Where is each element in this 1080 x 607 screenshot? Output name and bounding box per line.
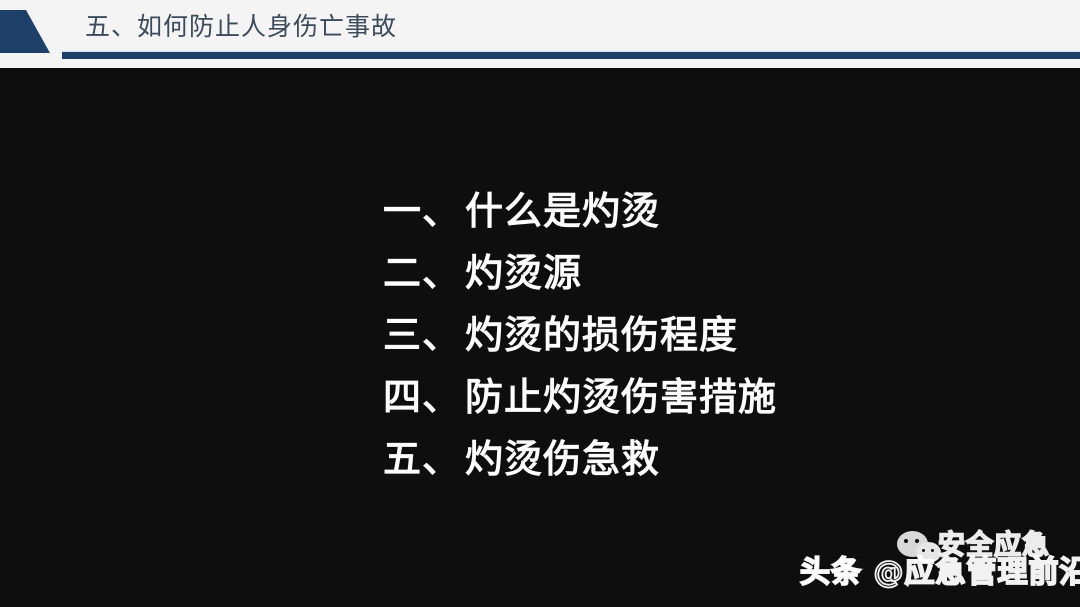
wechat-icon-eye-2 <box>915 539 919 543</box>
header-rule <box>62 52 1080 59</box>
agenda-item-2: 二、灼烫源 <box>383 242 1003 304</box>
agenda-item-5-label: 灼烫伤急救 <box>465 428 660 490</box>
slide-header: 五、如何防止人身伤亡事故 <box>0 0 1080 68</box>
agenda-item-1-label: 什么是灼烫 <box>465 180 660 242</box>
agenda-item-4: 四、防止灼烫伤害措施 <box>383 366 1003 428</box>
toutiao-handle-label: @应急管理前沿 <box>873 555 1080 590</box>
header-baseline <box>0 59 1080 68</box>
agenda-item-5: 五、灼烫伤急救 <box>383 428 1003 490</box>
wechat-icon-eye-1 <box>904 539 908 543</box>
header-accent-shape <box>0 10 50 53</box>
agenda-item-3-number: 三、 <box>383 304 461 366</box>
wechat-icon-eye-3 <box>922 549 925 552</box>
agenda-item-1: 一、什么是灼烫 <box>383 180 1003 242</box>
agenda-item-5-number: 五、 <box>383 428 461 490</box>
agenda-item-4-number: 四、 <box>383 366 461 428</box>
agenda-item-3: 三、灼烫的损伤程度 <box>383 304 1003 366</box>
presentation-slide: 五、如何防止人身伤亡事故 一、什么是灼烫 二、灼烫源 三、灼烫的损伤程度 四、防… <box>0 0 1080 607</box>
wechat-icon-eye-4 <box>931 549 934 552</box>
toutiao-watermark: 头条 @应急管理前沿 <box>800 556 1080 590</box>
agenda-item-3-label: 灼烫的损伤程度 <box>465 304 738 366</box>
agenda-item-2-number: 二、 <box>383 242 461 304</box>
agenda-list: 一、什么是灼烫 二、灼烫源 三、灼烫的损伤程度 四、防止灼烫伤害措施 五、灼烫伤… <box>383 180 1003 490</box>
agenda-item-1-number: 一、 <box>383 180 461 242</box>
page-title: 五、如何防止人身伤亡事故 <box>85 9 397 45</box>
agenda-item-4-label: 防止灼烫伤害措施 <box>465 366 777 428</box>
toutiao-platform-label: 头条 <box>800 555 862 590</box>
agenda-item-2-label: 灼烫源 <box>465 242 582 304</box>
